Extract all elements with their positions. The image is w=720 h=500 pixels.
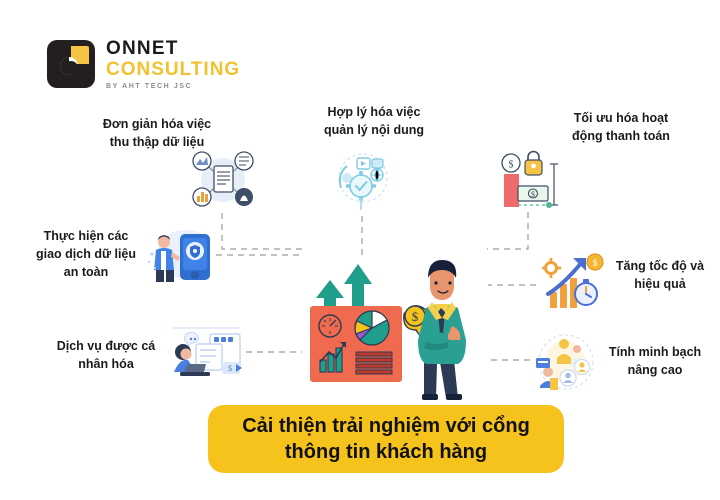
- people-circle-transparency-icon: [530, 330, 602, 394]
- svg-text:$: $: [509, 160, 514, 171]
- infographic-canvas: ONNET CONSULTING BY AHT TECH JSC Đơn giả…: [0, 0, 720, 500]
- document-collection-icon: [188, 146, 258, 212]
- label-payment-operations: Tối ưu hóa hoạt động thanh toán: [545, 110, 697, 146]
- label-content-management: Hợp lý hóa việc quản lý nội dung: [300, 104, 448, 140]
- personalized-service-laptop-icon: $: [166, 320, 246, 386]
- onnet-logo-mark-icon: [45, 38, 97, 90]
- svg-text:$: $: [412, 309, 419, 324]
- label-personalized-service: Dịch vụ được cá nhân hóa: [42, 338, 170, 374]
- label-speed-efficiency: Tăng tốc độ và hiệu quả: [604, 258, 716, 294]
- logo-line-onnet: ONNET: [106, 39, 240, 58]
- bottom-banner: Cải thiện trải nghiệm với cổng thông tin…: [208, 405, 564, 473]
- logo-wordmark: ONNET CONSULTING BY AHT TECH JSC: [106, 39, 240, 90]
- businessman-dashboard-illustration: $: [300, 248, 490, 400]
- label-secure-transactions: Thực hiện các giao dịch dữ liệu an toàn: [22, 228, 150, 281]
- logo-line-consulting: CONSULTING: [106, 60, 240, 79]
- secure-payment-lock-icon: $ $: [496, 150, 562, 214]
- label-transparency: Tính minh bạch nâng cao: [594, 344, 716, 380]
- growth-stopwatch-icon: $: [542, 250, 612, 314]
- svg-text:$: $: [593, 258, 598, 268]
- mobile-security-shield-icon: [142, 224, 218, 286]
- banner-text: Cải thiện trải nghiệm với cổng thông tin…: [242, 413, 530, 465]
- svg-text:$: $: [531, 190, 535, 199]
- logo-line-tagline: BY AHT TECH JSC: [106, 83, 240, 90]
- svg-text:$: $: [228, 364, 232, 373]
- onnet-consulting-logo: ONNET CONSULTING BY AHT TECH JSC: [45, 38, 240, 90]
- content-management-gear-icon: [327, 148, 397, 218]
